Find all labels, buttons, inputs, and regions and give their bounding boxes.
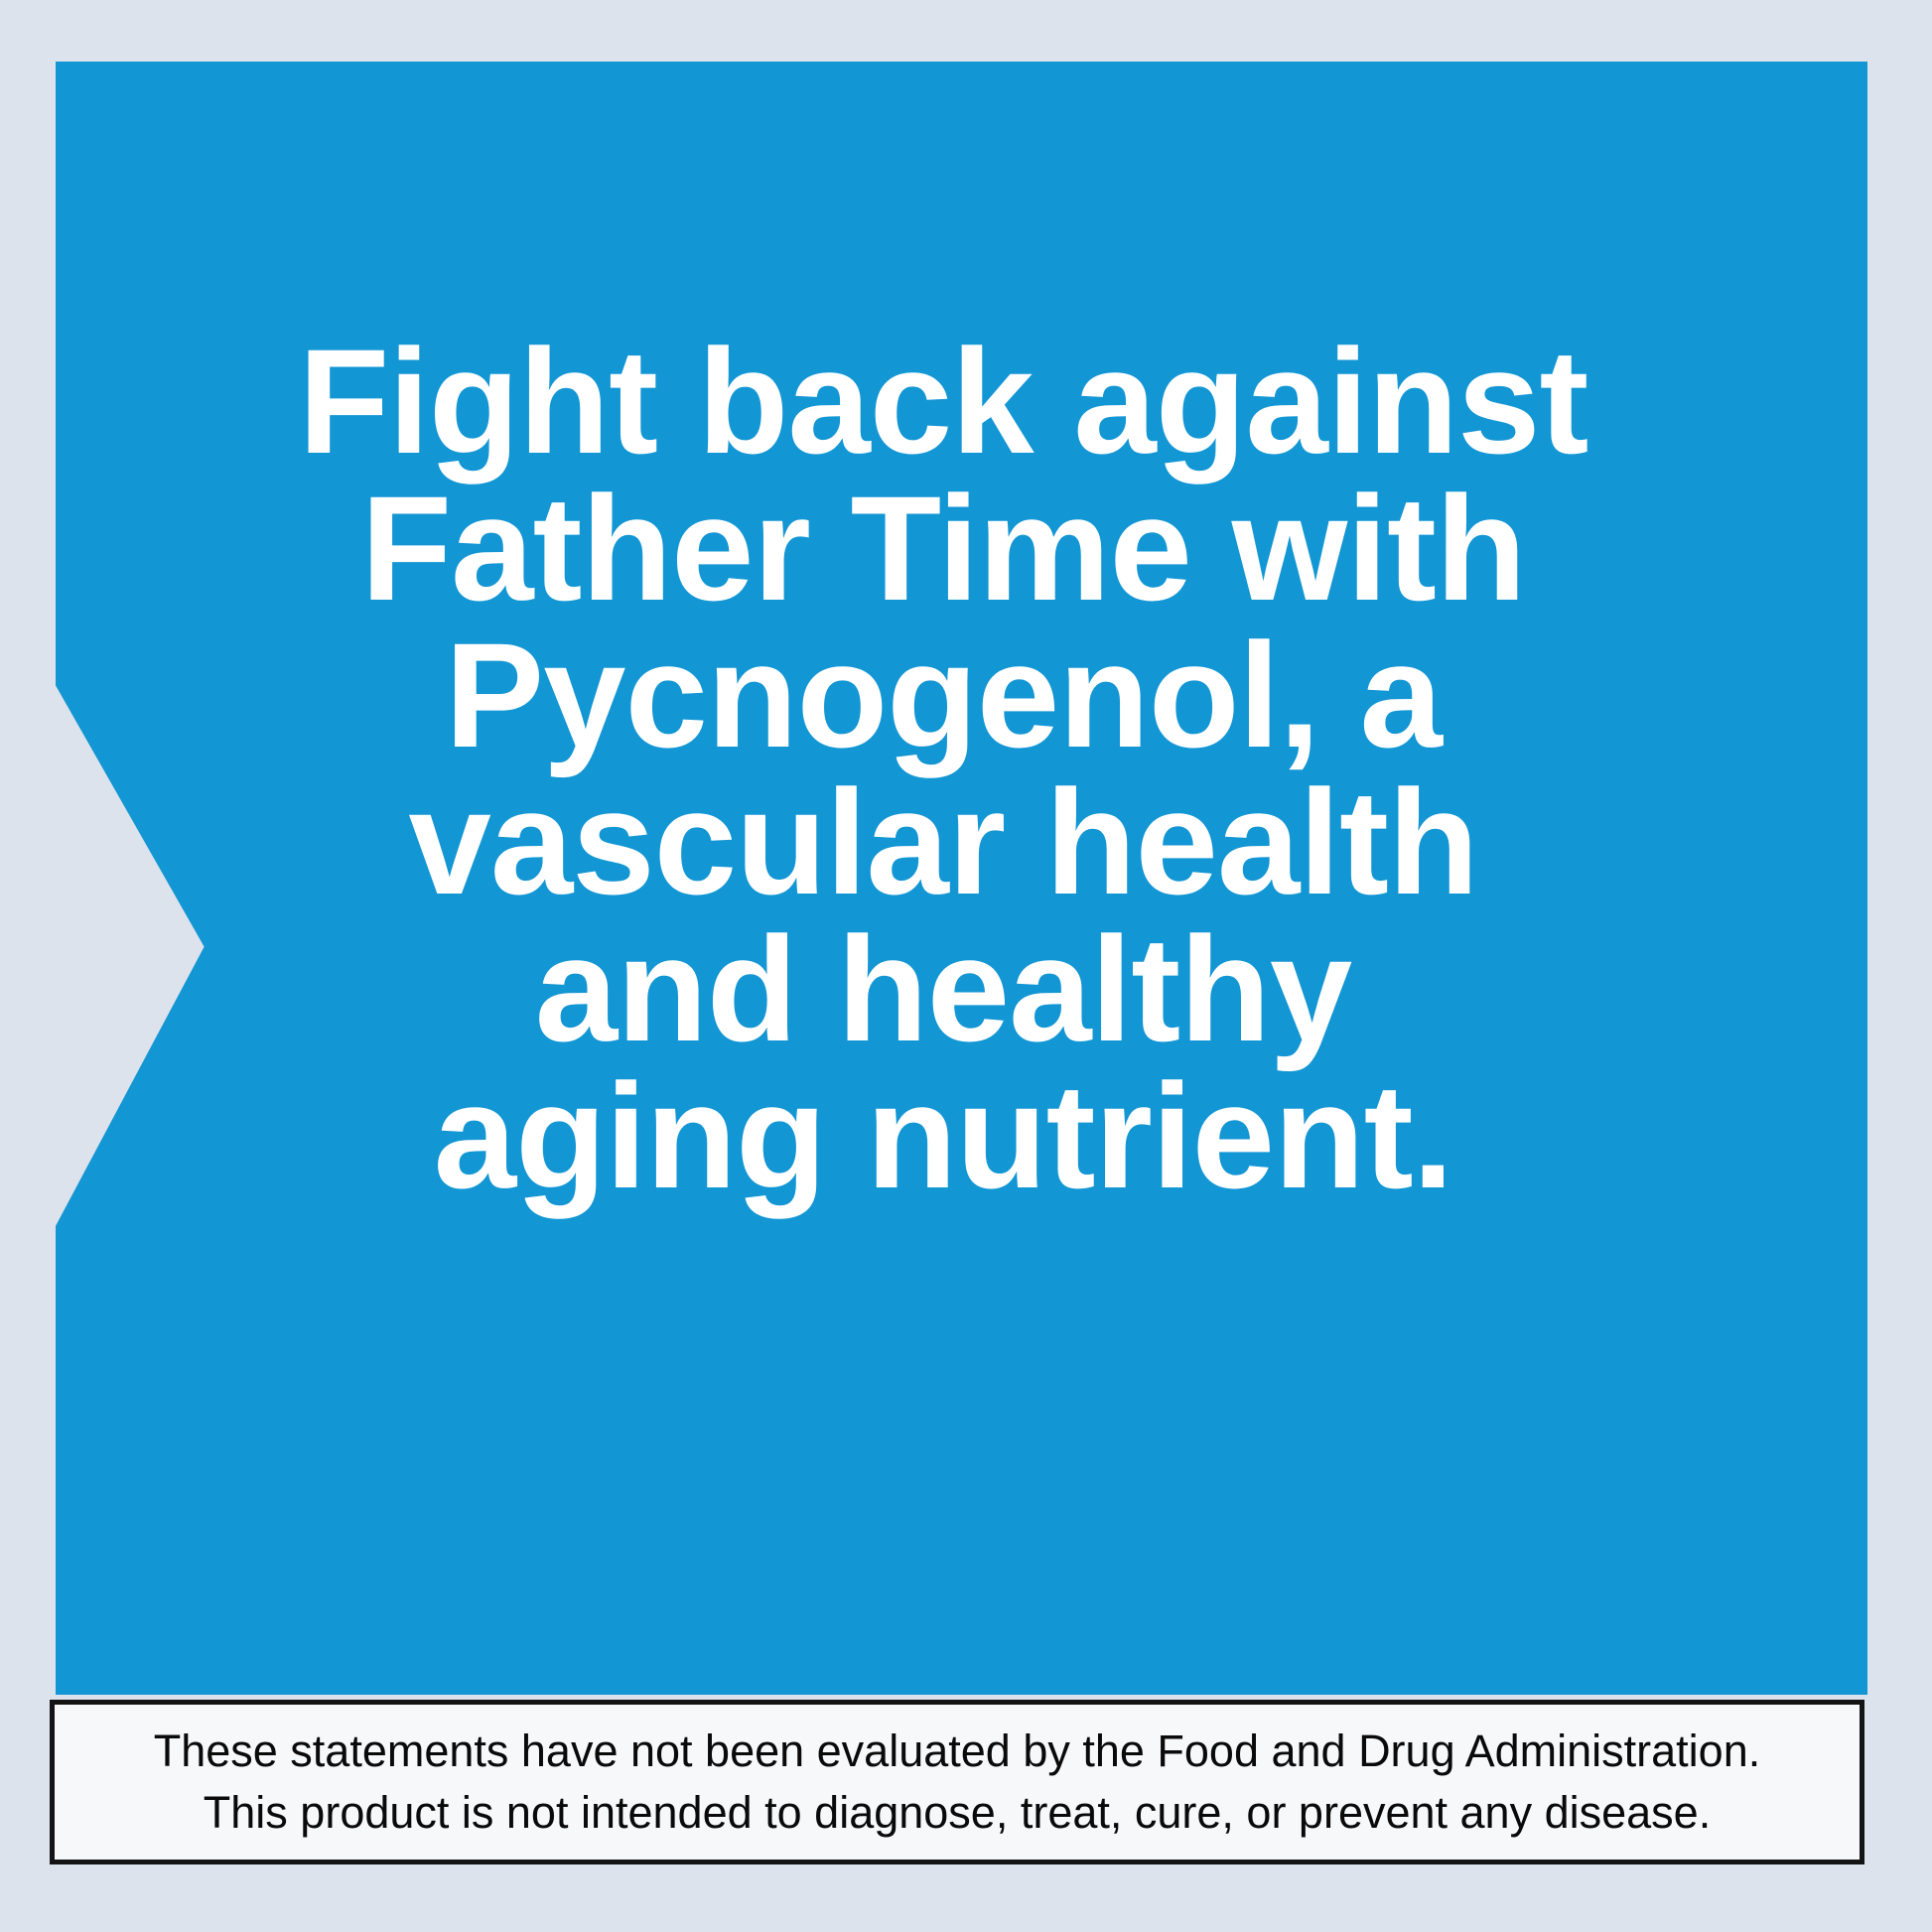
headline-line-1: Fight back against bbox=[228, 328, 1658, 475]
promo-graphic-canvas: Fight back against Father Time with Pycn… bbox=[0, 0, 1932, 1932]
fda-disclaimer-box: These statements have not been evaluated… bbox=[50, 1700, 1864, 1864]
disclaimer-line-1: These statements have not been evaluated… bbox=[154, 1721, 1761, 1782]
headline-line-4: vascular health bbox=[228, 768, 1658, 915]
headline-line-6: aging nutrient. bbox=[228, 1062, 1658, 1209]
headline-line-5: and healthy bbox=[228, 915, 1658, 1062]
headline: Fight back against Father Time with Pycn… bbox=[228, 328, 1658, 1209]
headline-line-2: Father Time with bbox=[228, 475, 1658, 621]
disclaimer-line-2: This product is not intended to diagnose… bbox=[204, 1782, 1711, 1844]
headline-line-3: Pycnogenol, a bbox=[228, 621, 1658, 768]
